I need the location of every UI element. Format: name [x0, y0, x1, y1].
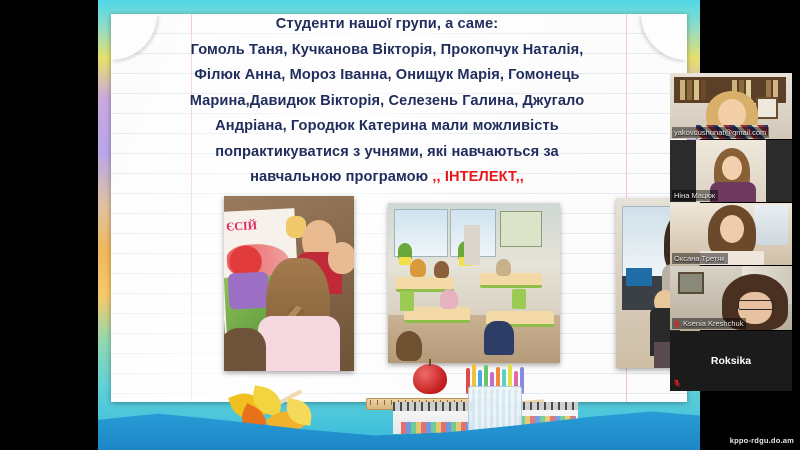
muted-mic-icon-2 — [674, 379, 680, 387]
pupil-1 — [410, 259, 426, 277]
tile2-face — [722, 156, 742, 180]
slide-line-7-prefix: навчальною програмою — [250, 169, 432, 185]
participant-tile-4[interactable]: Ksenia Kreshchuk — [670, 266, 792, 330]
child-face-2 — [328, 242, 354, 274]
tile1-wall-frame — [756, 97, 778, 119]
shared-slide: Студенти нашої групи, а саме: Гомоль Тан… — [98, 0, 700, 450]
screen-root: Студенти нашої групи, а саме: Гомоль Тан… — [0, 0, 800, 450]
child-back-head — [224, 328, 266, 371]
photo-kids-with-poster: ЄСІЙ — [224, 196, 354, 371]
participant-name-4: Ksenia Kreshchuk — [683, 319, 743, 328]
monitor — [626, 268, 652, 286]
participant-tile-1[interactable]: yakovdushunat@gmail.com — [670, 73, 792, 139]
participant-video-strip[interactable]: yakovdushunat@gmail.com Ніна Мацюк Оксан… — [670, 70, 792, 370]
poster-purple-area — [228, 272, 270, 310]
pupil-5 — [484, 321, 514, 355]
photo-classroom-lesson — [388, 203, 560, 363]
slide-line-5: Андріана, Городюк Катерина мали можливіс… — [122, 114, 652, 140]
participant-label-4: Ksenia Kreshchuk — [672, 318, 746, 329]
pupil-4 — [440, 289, 458, 309]
participant-name-3: Оксана Третяк — [674, 254, 725, 263]
slide-line-2: Гомоль Таня, Кучканова Вікторія, Прокопч… — [122, 38, 652, 64]
slide-text-block: Студенти нашої групи, а саме: Гомоль Тан… — [122, 12, 652, 191]
classroom-pot-1 — [399, 257, 411, 265]
slide-line-4: Марина,Давидюк Вікторія, Селезень Галина… — [122, 89, 652, 115]
program-name-highlight: ,, ІНТЕЛЕКТ,, — [432, 169, 524, 185]
participant-name-2: Ніна Мацюк — [674, 191, 715, 200]
participant-label-3: Оксана Третяк — [672, 253, 728, 264]
spiral-notebook-1 — [393, 402, 491, 434]
chair-1 — [400, 291, 414, 311]
classroom-board — [500, 211, 542, 247]
participant-name-1: yakovdushunat@gmail.com — [674, 128, 766, 137]
participant-tile-2[interactable]: Ніна Мацюк — [670, 140, 792, 202]
teacher — [464, 225, 480, 265]
slide-line-3: Філюк Анна, Мороз Іванна, Онищук Марія, … — [122, 63, 652, 89]
desk-2 — [480, 273, 542, 288]
participant-name-5: Roksika — [711, 355, 751, 367]
watermark: kppo-rdgu.do.am — [730, 436, 794, 445]
tile4-wall-art — [678, 272, 704, 294]
blue-wave-footer — [98, 398, 700, 450]
slide-line-7: навчальною програмою ,, ІНТЕЛЕКТ,, — [122, 165, 652, 191]
participant-tile-5[interactable]: Roksika — [670, 331, 792, 391]
tile4-glasses — [738, 300, 774, 310]
spiral-notebook-2 — [488, 402, 578, 428]
child-pink-sweater — [258, 316, 340, 371]
participant-tile-3[interactable]: Оксана Третяк — [670, 203, 792, 265]
slide-line-1: Студенти нашої групи, а саме: — [122, 12, 652, 38]
participant-label-2: Ніна Мацюк — [672, 190, 718, 201]
participant-label-1: yakovdushunat@gmail.com — [672, 127, 769, 138]
chair-2 — [512, 289, 526, 309]
muted-mic-icon — [674, 320, 680, 328]
slide-line-6: попрактикуватися з учнями, які навчаютьс… — [122, 140, 652, 166]
poster-title: ЄСІЙ — [224, 217, 288, 242]
pupil-2 — [434, 261, 449, 278]
tile3-face — [720, 215, 744, 243]
pupil-3 — [496, 259, 511, 276]
tile3-window — [754, 205, 788, 245]
pupil-6 — [396, 331, 422, 361]
